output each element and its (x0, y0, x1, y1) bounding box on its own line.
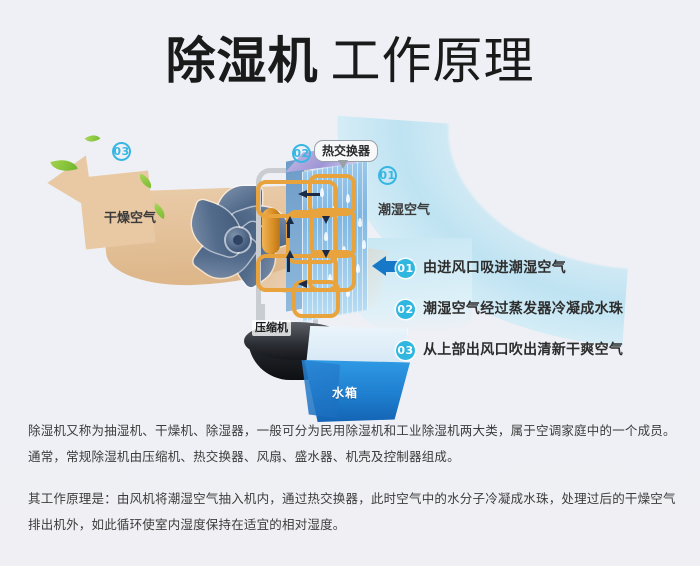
callout-label-heat-exchanger: 热交换器 (314, 140, 378, 162)
callout-badge-03: 03 (112, 142, 131, 161)
legend-badge-02: 02 (396, 300, 415, 319)
legend-item-label: 潮湿空气经过蒸发器冷凝成水珠 (423, 299, 623, 319)
legend-item-label: 由进风口吸进潮湿空气 (423, 258, 566, 278)
callout-label-dry-air: 干燥空气 (104, 210, 156, 227)
description-paragraph-2: 其工作原理是：由风机将潮湿空气抽入机内，通过热交换器，此时空气中的水分子冷凝成水… (28, 486, 676, 538)
legend-badge-01: 01 (396, 259, 415, 278)
legend-item-label: 从上部出风口吹出清新干爽空气 (423, 340, 623, 360)
leaf-icon (85, 131, 101, 146)
page-title-secondary: 工作原理 (331, 32, 535, 90)
callout-badge-02: 02 (292, 144, 311, 163)
description-block: 除湿机又称为抽湿机、干燥机、除湿器，一般可分为民用除湿机和工业除湿机两大类，属于… (28, 418, 676, 538)
callout-badge-01: 01 (378, 166, 397, 185)
legend-item: 02 潮湿空气经过蒸发器冷凝成水珠 (396, 299, 686, 319)
callout-label-humid-air: 潮湿空气 (378, 202, 430, 219)
page-title-primary: 除湿机 (166, 32, 319, 90)
legend-item: 03 从上部出风口吹出清新干爽空气 (396, 340, 686, 360)
callout-bubble-pointer-icon (338, 160, 348, 169)
legend-badge-03: 03 (396, 341, 415, 360)
legend-list: 01 由进风口吸进潮湿空气 02 潮湿空气经过蒸发器冷凝成水珠 03 从上部出风… (396, 258, 686, 360)
dehumidifier-unit: 压缩机 水箱 (246, 154, 396, 384)
description-paragraph-1: 除湿机又称为抽湿机、干燥机、除湿器，一般可分为民用除湿机和工业除湿机两大类，属于… (28, 418, 676, 470)
page-title: 除湿机工作原理 (0, 30, 700, 92)
compressor-label: 压缩机 (252, 320, 291, 336)
dehumidifier-infographic: 除湿机工作原理 (0, 0, 700, 566)
legend-item: 01 由进风口吸进潮湿空气 (396, 258, 686, 278)
water-tank-label: 水箱 (332, 386, 358, 401)
